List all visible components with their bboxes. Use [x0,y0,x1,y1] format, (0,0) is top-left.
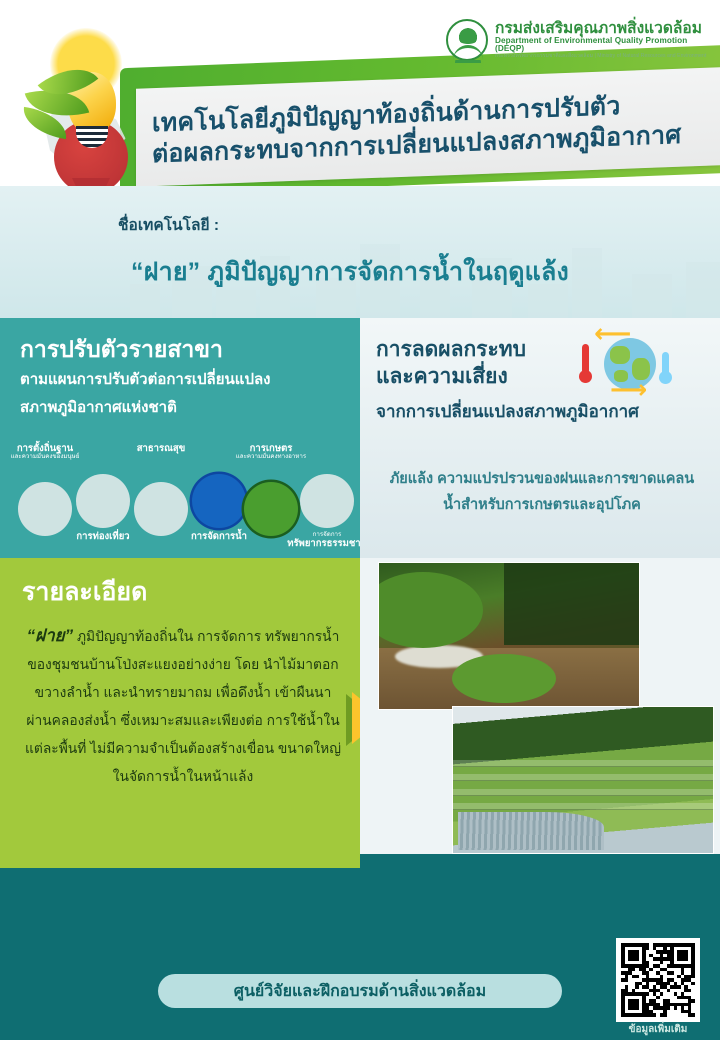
terrace-line-3 [453,789,713,796]
qr-module [635,1006,639,1010]
sector-mainlabel-3: สาธารณสุข [112,444,210,454]
terrace-line-2 [453,774,713,781]
org-ministry: กระทรวงทรัพยากรธรรมชาติและสิ่งแวดล้อม | … [495,54,714,59]
sector-label-3: สาธารณสุข [112,444,210,454]
qr-module [667,1006,671,1010]
qr-module [646,947,650,951]
qr-module [635,975,639,979]
qr-module [625,978,629,982]
qr-module [646,992,650,996]
thermometer-cold-icon [662,352,669,376]
qr-module [635,985,639,989]
agriculture-field-icon[interactable] [244,482,298,536]
photo1-shade [504,563,639,645]
sector-sublabel-5: และความมั่นคงทางอาหาร [222,454,320,461]
adaptation-panel-heading: การปรับตัวรายสาขา ตามแผนการปรับตัวต่อการ… [20,334,350,420]
adaptation-title: การปรับตัวรายสาขา [20,334,350,364]
qr-module [670,971,674,975]
photo1-bush-2 [452,654,556,704]
qr-module [656,996,660,1000]
skyline-building [216,290,256,318]
sector-label-4: การจัดการน้ำ [170,532,268,542]
mitigation-body: ภัยแล้ง ความแปรปรวนของฝนและการขาดแคลน น้… [372,466,712,518]
footer [0,868,720,1040]
globe-thermometer-icon: ⟵ ⟶ [596,330,662,396]
globe-land-1 [610,346,630,364]
natural-resources-mountain-icon[interactable] [300,474,354,528]
qr-module [691,1013,695,1017]
photo1-bush-1 [378,572,483,648]
settlement-house-icon[interactable] [18,482,72,536]
water-management-tap-icon[interactable] [192,474,246,528]
mitigation-subtitle: จากการเปลี่ยนแปลงสภาพภูมิอากาศ [376,398,696,425]
adaptation-subtitle-1: ตามแผนการปรับตัวต่อการเปลี่ยนแปลง [20,367,350,392]
tourism-city-icon[interactable] [76,474,130,528]
org-name-en: Department of Environmental Quality Prom… [495,37,714,54]
deqp-logo-text: กรมส่งเสริมคุณภาพสิ่งแวดล้อม Department … [495,21,714,60]
qr-module [653,1013,657,1017]
qr-module [632,968,636,972]
center-name-pill: ศูนย์วิจัยและฝึกอบรมด้านสิ่งแวดล้อม [158,974,562,1008]
rice-terrace-photo [452,706,714,854]
lightbulb-leaf-map-pin-icon [16,48,166,208]
paddy-water [458,812,604,850]
deqp-logo: กรมส่งเสริมคุณภาพสิ่งแวดล้อม Department … [446,14,714,66]
qr-code-icon[interactable] [616,938,700,1022]
qr-module [684,957,688,961]
qr-module [667,989,671,993]
qr-code-grid [621,943,695,1017]
sector-icon-row: การตั้งถิ่นฐานและความมั่นคงของมนุษย์การท… [4,470,360,534]
details-title: รายละเอียด [22,572,147,612]
weir-stream-photo [378,562,640,710]
qr-module [691,999,695,1003]
org-name-th: กรมส่งเสริมคุณภาพสิ่งแวดล้อม [495,21,714,37]
sector-mainlabel-2: การท่องเที่ยว [54,532,152,542]
center-name: ศูนย์วิจัยและฝึกอบรมด้านสิ่งแวดล้อม [234,979,486,1004]
qr-module [674,1006,678,1010]
sector-label-2: การท่องเที่ยว [54,532,152,542]
qr-module [649,968,653,972]
qr-module [660,961,664,965]
sector-mainlabel-4: การจัดการน้ำ [170,532,268,542]
terrace-line-1 [453,760,713,767]
sector-label-1: การตั้งถิ่นฐานและความมั่นคงของมนุษย์ [0,444,94,461]
tree-water-circle-logo-icon [446,19,488,61]
qr-module [635,957,639,961]
details-body: “ฝาย” ภูมิปัญญาท้องถิ่นใน การจัดการ ทรัพ… [22,622,344,791]
details-body-text: ภูมิปัญญาท้องถิ่นใน การจัดการ ทรัพยากรน้… [25,629,341,784]
qr-module [663,1013,667,1017]
qr-module [677,985,681,989]
mitigation-body-line1: ภัยแล้ง ความแปรปรวนของฝนและการขาดแคลน [372,466,712,492]
technology-name: “ฝาย” ภูมิปัญญาการจัดการน้ำในฤดูแล้ง [0,252,700,292]
technology-label: ชื่อเทคโนโลยี : [118,212,219,237]
public-health-hospital-icon[interactable] [134,482,188,536]
sector-label-5: การเกษตรและความมั่นคงทางอาหาร [222,444,320,461]
qr-caption: ข้อมูลเพิ่มเติม [608,1022,708,1037]
qr-module [688,989,692,993]
details-keyword: “ฝาย” [27,626,73,645]
terrace-line-4 [453,803,713,810]
qr-module [660,992,664,996]
cycle-arrow-bottom-icon: ⟶ [610,374,647,405]
qr-module [691,982,695,986]
sector-sublabel-1: และความมั่นคงของมนุษย์ [0,454,94,461]
adaptation-subtitle-2: สภาพภูมิอากาศแห่งชาติ [20,395,350,420]
mitigation-body-line2: น้ำสำหรับการเกษตรและอุปโภค [372,492,712,518]
thermometer-hot-icon [582,344,589,374]
poster-root: เทคโนโลยีภูมิปัญญาท้องถิ่นด้านการปรับตัว… [0,0,720,1040]
qr-module [691,975,695,979]
